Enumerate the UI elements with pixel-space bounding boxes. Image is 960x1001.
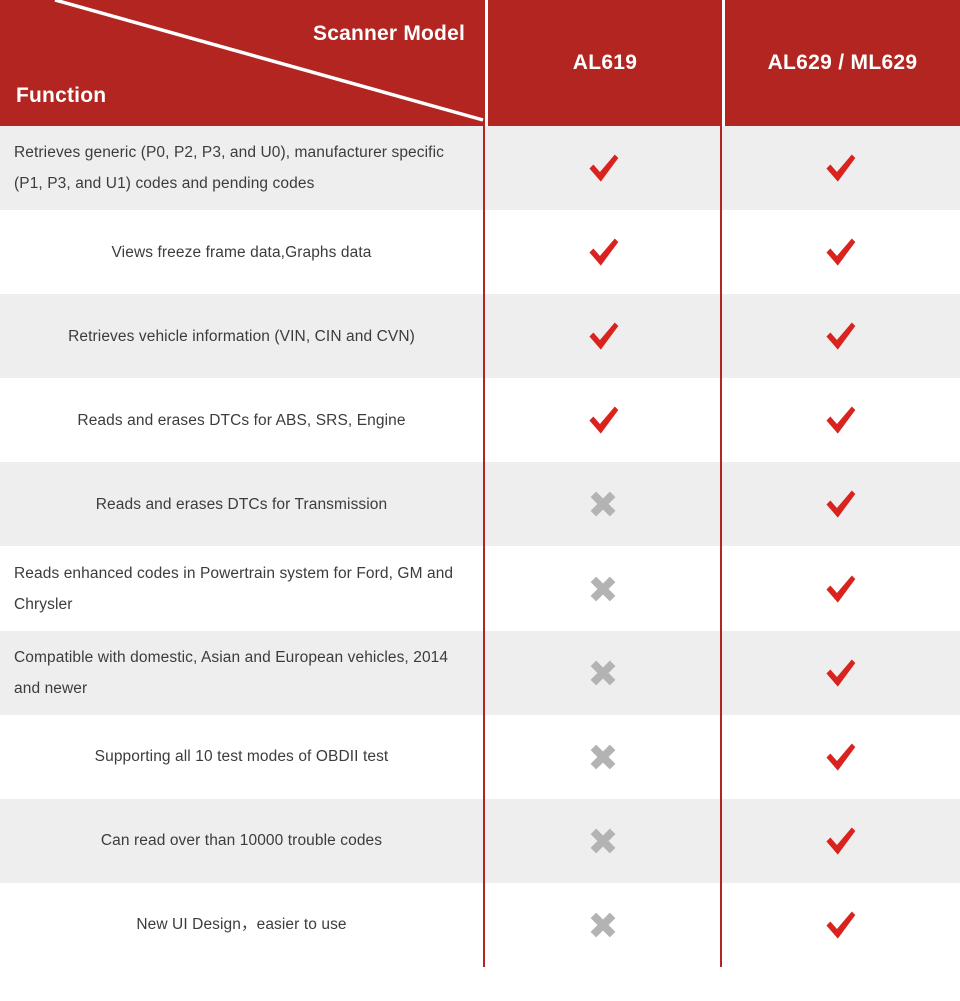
cell-function: Reads enhanced codes in Powertrain syste…: [0, 546, 485, 630]
cell-function: Reads and erases DTCs for Transmission: [0, 462, 485, 546]
header-cell-model-al629: AL629 / ML629: [722, 0, 960, 126]
cell-support-al619: [485, 462, 722, 546]
check-icon: [582, 147, 624, 189]
check-icon: [582, 399, 624, 441]
cell-support-al619: [485, 294, 722, 378]
function-description: Supporting all 10 test modes of OBDII te…: [95, 741, 389, 772]
check-icon: [819, 652, 861, 694]
scanner-comparison-table: Scanner Model Function AL619 AL629 / ML6…: [0, 0, 960, 1001]
check-icon: [819, 231, 861, 273]
table-row: Can read over than 10000 trouble codes: [0, 799, 960, 883]
cell-function: Can read over than 10000 trouble codes: [0, 799, 485, 883]
cell-support-al629: [722, 799, 958, 883]
table-row: Reads enhanced codes in Powertrain syste…: [0, 546, 960, 630]
function-description: Compatible with domestic, Asian and Euro…: [14, 642, 469, 704]
table-row: Reads and erases DTCs for Transmission: [0, 462, 960, 546]
function-description: Retrieves generic (P0, P2, P3, and U0), …: [14, 137, 469, 199]
cell-function: Views freeze frame data,Graphs data: [0, 210, 485, 294]
table-row: New UI Design，easier to use: [0, 883, 960, 967]
scanner-model-header-label: Scanner Model: [313, 22, 465, 46]
check-icon: [819, 483, 861, 525]
cell-function: Compatible with domestic, Asian and Euro…: [0, 631, 485, 715]
check-icon: [819, 904, 861, 946]
cross-icon: [582, 568, 624, 610]
cell-support-al629: [722, 210, 958, 294]
cross-icon: [582, 483, 624, 525]
model-name-al629: AL629 / ML629: [768, 51, 918, 75]
check-icon: [819, 736, 861, 778]
check-icon: [819, 820, 861, 862]
cell-function: Retrieves vehicle information (VIN, CIN …: [0, 294, 485, 378]
cell-support-al619: [485, 126, 722, 210]
table-row: Retrieves generic (P0, P2, P3, and U0), …: [0, 126, 960, 210]
cell-support-al619: [485, 631, 722, 715]
function-header-label: Function: [16, 84, 106, 108]
model-name-al619: AL619: [573, 51, 638, 75]
cell-support-al629: [722, 126, 958, 210]
check-icon: [819, 147, 861, 189]
table-header: Scanner Model Function AL619 AL629 / ML6…: [0, 0, 960, 126]
header-cell-model-al619: AL619: [485, 0, 722, 126]
check-icon: [819, 399, 861, 441]
function-description: New UI Design，easier to use: [136, 909, 346, 940]
table-row: Reads and erases DTCs for ABS, SRS, Engi…: [0, 378, 960, 462]
cell-function: Supporting all 10 test modes of OBDII te…: [0, 715, 485, 799]
cell-support-al619: [485, 546, 722, 630]
cell-function: Retrieves generic (P0, P2, P3, and U0), …: [0, 126, 485, 210]
cell-support-al629: [722, 631, 958, 715]
table-row: Supporting all 10 test modes of OBDII te…: [0, 715, 960, 799]
cell-support-al619: [485, 378, 722, 462]
cell-function: New UI Design，easier to use: [0, 883, 485, 967]
cross-icon: [582, 736, 624, 778]
cross-icon: [582, 820, 624, 862]
table-row: Retrieves vehicle information (VIN, CIN …: [0, 294, 960, 378]
cell-function: Reads and erases DTCs for ABS, SRS, Engi…: [0, 378, 485, 462]
table-row: Compatible with domestic, Asian and Euro…: [0, 631, 960, 715]
cell-support-al619: [485, 210, 722, 294]
cell-support-al619: [485, 799, 722, 883]
cell-support-al619: [485, 715, 722, 799]
function-description: Can read over than 10000 trouble codes: [101, 825, 382, 856]
function-description: Retrieves vehicle information (VIN, CIN …: [68, 321, 415, 352]
cell-support-al619: [485, 883, 722, 967]
function-description: Reads and erases DTCs for ABS, SRS, Engi…: [77, 405, 405, 436]
function-description: Views freeze frame data,Graphs data: [112, 237, 372, 268]
function-description: Reads and erases DTCs for Transmission: [96, 489, 388, 520]
check-icon: [819, 568, 861, 610]
cross-icon: [582, 904, 624, 946]
cell-support-al629: [722, 378, 958, 462]
table-row: Views freeze frame data,Graphs data: [0, 210, 960, 294]
function-description: Reads enhanced codes in Powertrain syste…: [14, 558, 469, 620]
table-body: Retrieves generic (P0, P2, P3, and U0), …: [0, 126, 960, 967]
cross-icon: [582, 652, 624, 694]
cell-support-al629: [722, 294, 958, 378]
cell-support-al629: [722, 462, 958, 546]
cell-support-al629: [722, 546, 958, 630]
cell-support-al629: [722, 715, 958, 799]
cell-support-al629: [722, 883, 958, 967]
check-icon: [582, 231, 624, 273]
check-icon: [819, 315, 861, 357]
header-corner-cell: Scanner Model Function: [0, 0, 485, 126]
check-icon: [582, 315, 624, 357]
